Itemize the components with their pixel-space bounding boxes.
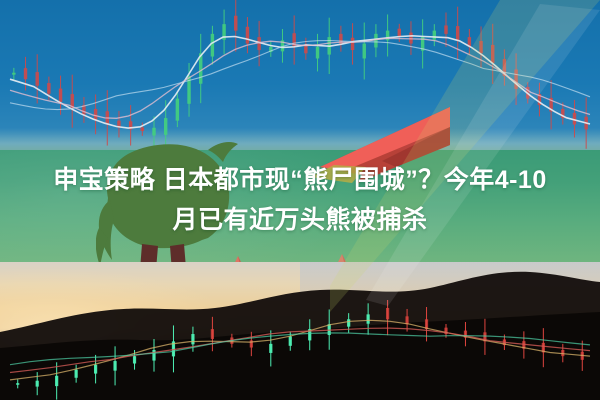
- headline-overlay: 申宝策略 日本都市现“熊尸围城”？今年4-10 月已有近万头熊被捕杀: [0, 160, 600, 240]
- bottom-candlestick-chart: [0, 300, 600, 400]
- news-thumbnail: 申宝策略 日本都市现“熊尸围城”？今年4-10 月已有近万头熊被捕杀: [0, 0, 600, 400]
- headline-line-1: 申宝策略 日本都市现“熊尸围城”？今年4-10: [0, 160, 600, 200]
- headline-line-2: 月已有近万头熊被捕杀: [0, 200, 600, 240]
